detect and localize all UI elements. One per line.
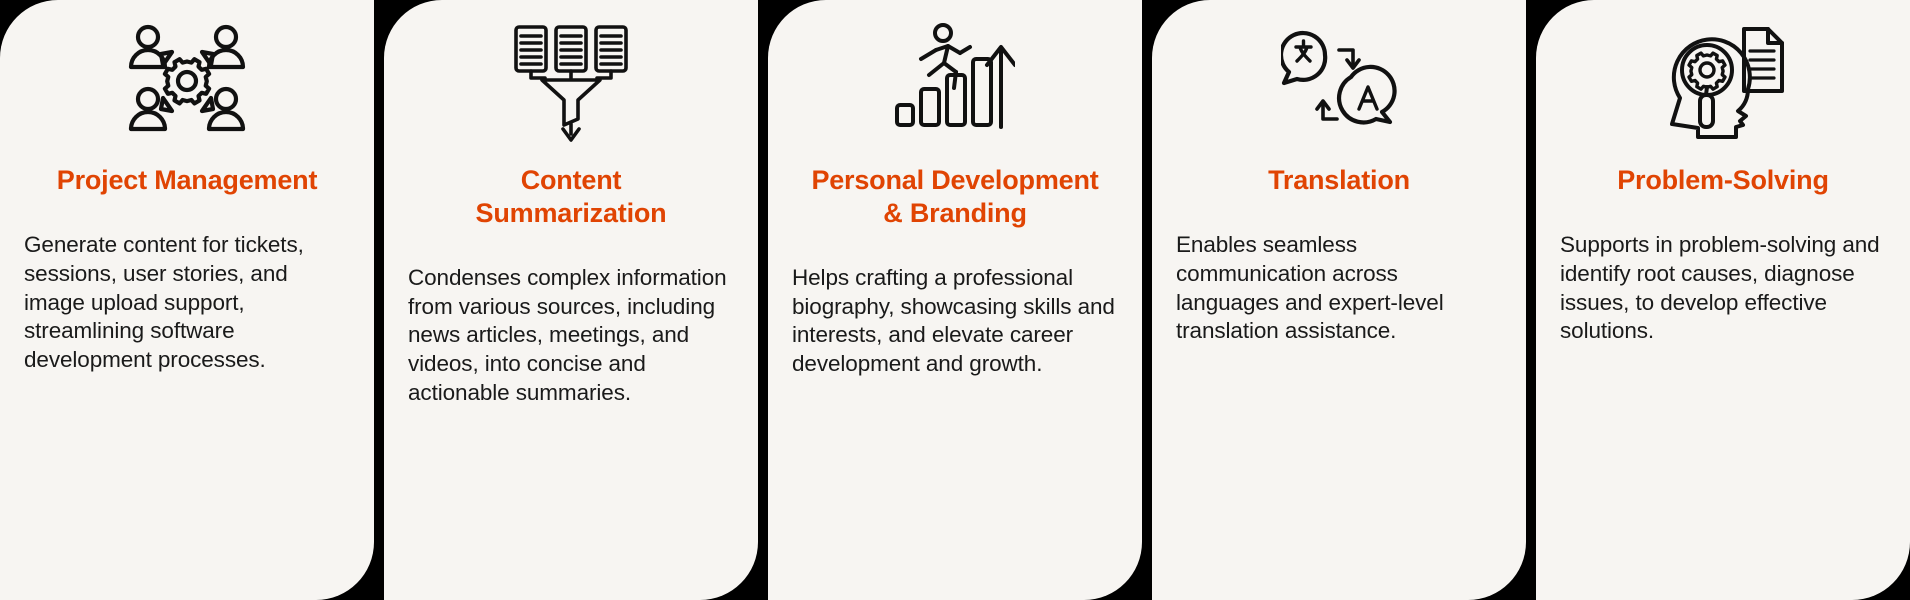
card-title: Project Management	[24, 164, 350, 197]
card-description: Helps crafting a professional biography,…	[792, 264, 1118, 379]
card-description: Generate content for tickets, sessions, …	[24, 231, 350, 375]
feature-card-translation[interactable]: Translation Enables seamless communicati…	[1152, 0, 1526, 600]
team-collaboration-gear-icon	[125, 18, 249, 148]
person-climbing-growth-chart-icon	[895, 18, 1015, 148]
card-title: Content Summarization	[408, 164, 734, 230]
feature-card-problem-solving[interactable]: Problem-Solving Supports in problem-solv…	[1536, 0, 1910, 600]
feature-card-personal-development[interactable]: Personal Development & Branding Helps cr…	[768, 0, 1142, 600]
documents-funnel-summarize-icon	[512, 18, 630, 148]
head-magnifier-gear-document-icon	[1662, 18, 1784, 148]
translation-speech-bubbles-icon	[1281, 18, 1397, 148]
feature-card-row: Project Management Generate content for …	[0, 0, 1910, 559]
card-description: Enables seamless communication across la…	[1176, 231, 1502, 346]
feature-card-project-management[interactable]: Project Management Generate content for …	[0, 0, 374, 600]
card-title: Translation	[1176, 164, 1502, 197]
card-title: Problem-Solving	[1560, 164, 1886, 197]
card-title: Personal Development & Branding	[792, 164, 1118, 230]
feature-card-content-summarization[interactable]: Content Summarization Condenses complex …	[384, 0, 758, 600]
card-description: Condenses complex information from vario…	[408, 264, 734, 408]
card-description: Supports in problem-solving and identify…	[1560, 231, 1886, 346]
